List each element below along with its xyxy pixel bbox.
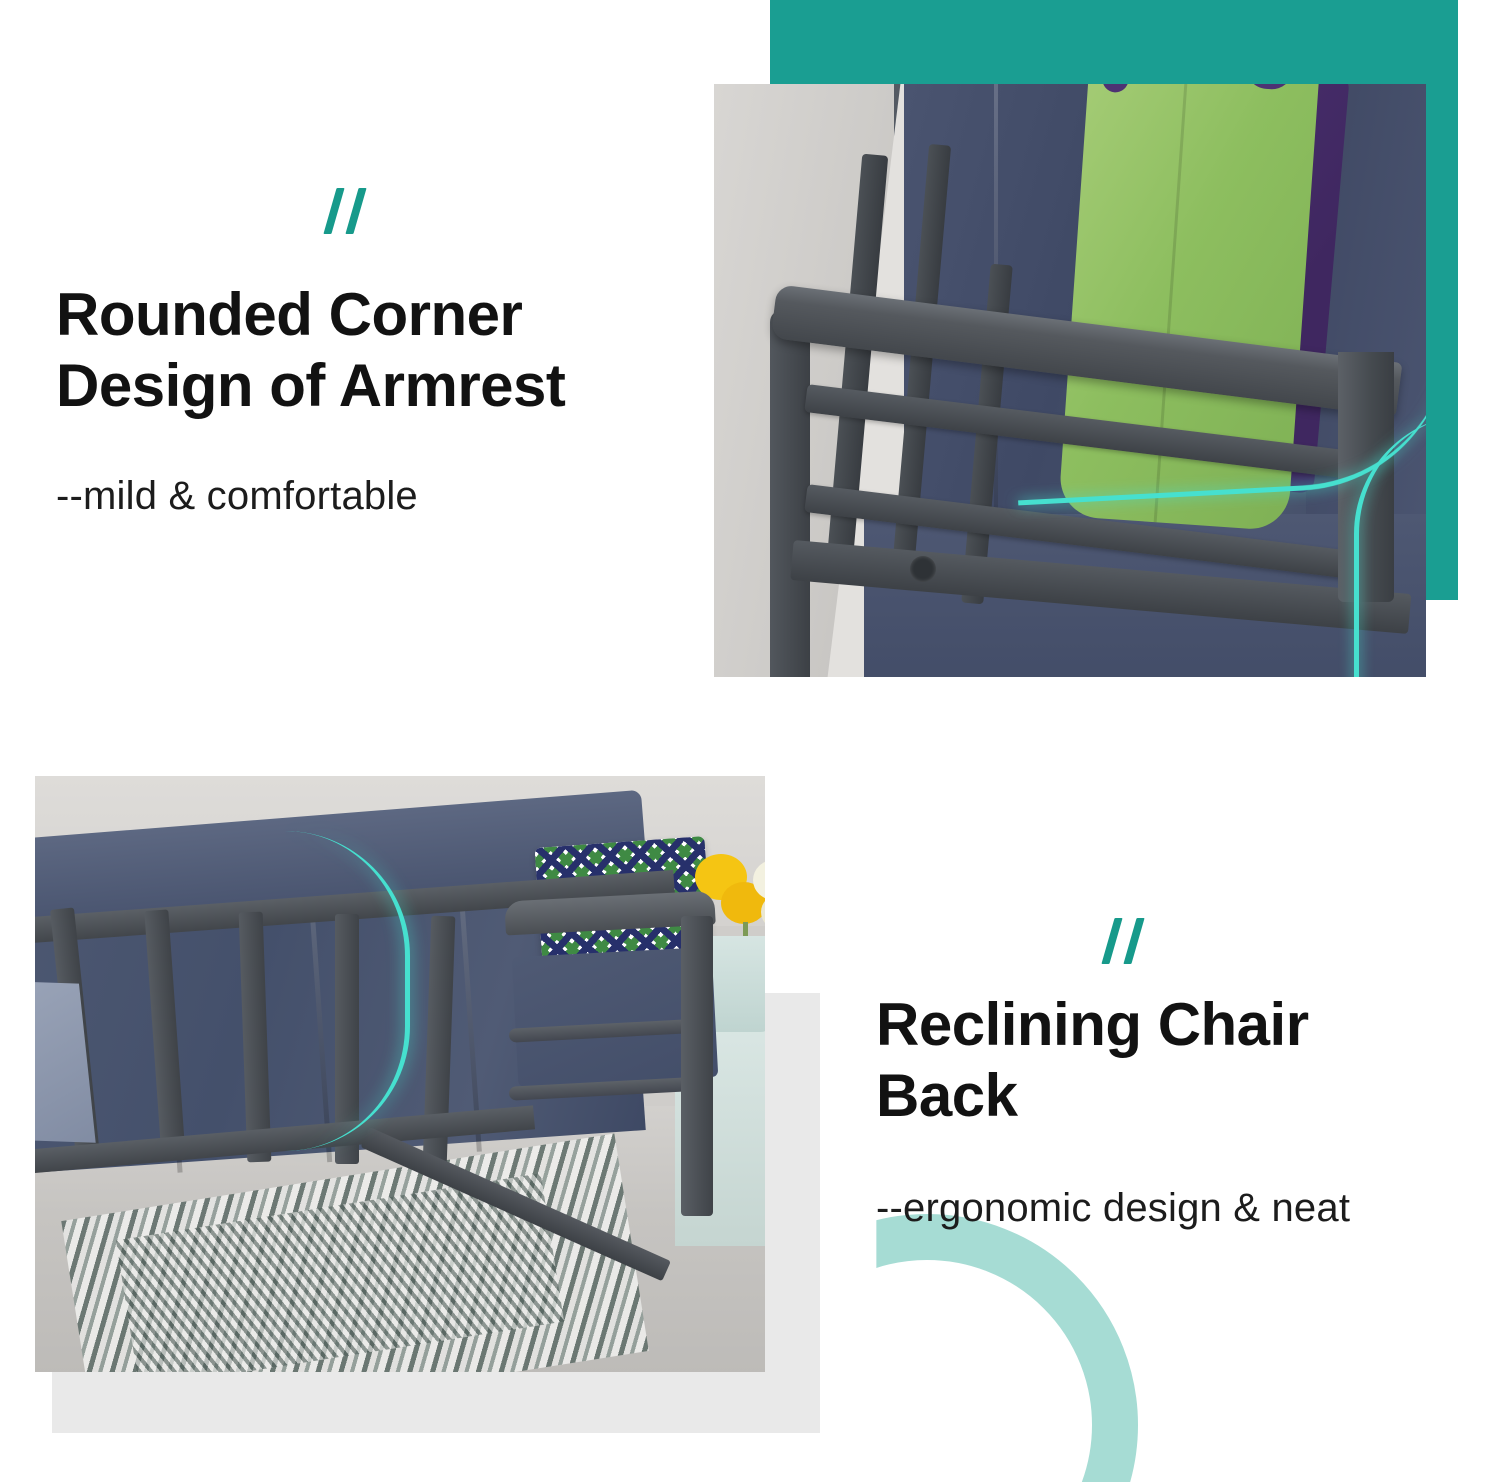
armrest-front-post [681, 916, 713, 1216]
headline-line-2: Back [876, 1062, 1017, 1129]
slash-accent-icon [330, 188, 360, 234]
sofa-armrest [505, 896, 715, 1196]
frame-pivot [910, 556, 936, 582]
pillow-notch-left [1102, 84, 1131, 93]
pillow-notch-right [1244, 84, 1294, 91]
page-title: Rounded Corner Design of Armrest [56, 280, 716, 422]
armrest-slat [509, 1019, 689, 1042]
armrest-left-upright [770, 310, 810, 677]
slash-accent-icon [1108, 918, 1138, 964]
headline-line-1: Reclining Chair [876, 991, 1309, 1058]
armrest-slat [509, 1077, 689, 1100]
page-title: Reclining Chair Back [876, 990, 1486, 1132]
armrest-closeup-photo [714, 84, 1426, 677]
headline-line-1: Rounded Corner [56, 281, 522, 348]
feature-text-block-recliner: Reclining Chair Back --ergonomic design … [876, 990, 1486, 1231]
feature-subtitle: --ergonomic design & neat [876, 1186, 1486, 1231]
headline-line-2: Design of Armrest [56, 352, 565, 419]
feature-text-block-armrest: Rounded Corner Design of Armrest --mild … [56, 280, 716, 519]
infographic-page: Rounded Corner Design of Armrest --mild … [0, 0, 1500, 1482]
sofa-back-photo [35, 776, 765, 1372]
feature-subtitle: --mild & comfortable [56, 474, 716, 519]
